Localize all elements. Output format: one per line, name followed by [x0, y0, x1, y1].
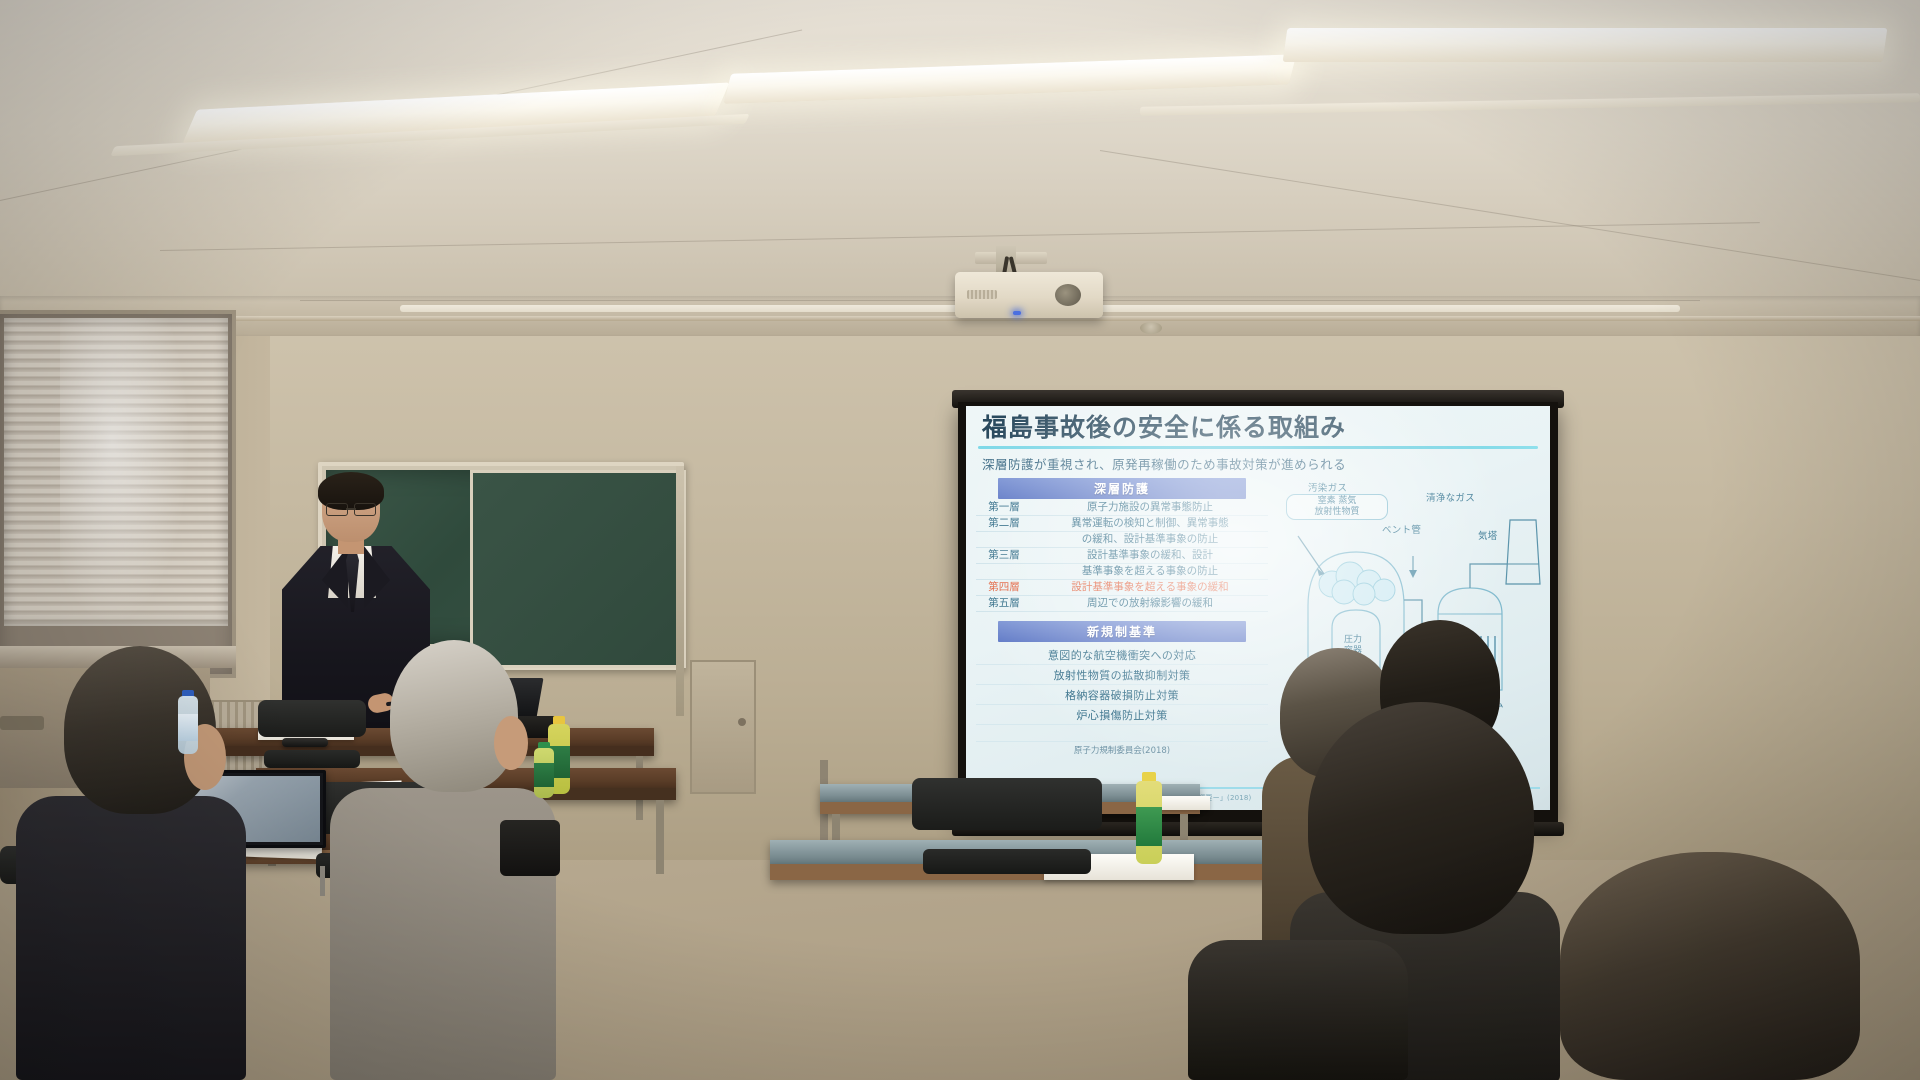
attendee-head: [390, 640, 518, 792]
defense-level-label: 第二層: [976, 515, 1032, 531]
defense-in-depth-row: 第二層異常運転の検知と制御、異常事態: [976, 515, 1268, 531]
defense-level-text: 異常運転の検知と制御、異常事態: [1032, 515, 1268, 531]
gas-arrow: [1298, 536, 1324, 574]
ceiling-projector: [955, 272, 1103, 318]
attendee-right-shoulder: [1188, 940, 1408, 1080]
defense-level-label: 第五層: [976, 596, 1032, 612]
water-bottle: [178, 690, 198, 754]
defense-in-depth-row: の緩和、設計基準事象の防止: [976, 531, 1268, 547]
defense-level-label: 第四層: [976, 580, 1032, 596]
defense-level-text: の緩和、設計基準事象の防止: [1032, 531, 1268, 547]
chair[interactable]: [912, 778, 1102, 874]
cabinet-knob[interactable]: [738, 718, 746, 726]
attendee-ear: [494, 716, 528, 770]
slide-subtitle: 深層防護が重視され、原発再稼働のため事故対策が進められる: [976, 454, 1540, 473]
defense-in-depth-table: 第一層原子力施設の異常事態防止第二層異常運転の検知と制御、異常事態の緩和、設計基…: [976, 500, 1268, 613]
projector-vent: [967, 290, 997, 299]
slide-title-rule: [978, 446, 1538, 449]
attendee-body: [16, 796, 246, 1080]
attendee-head: [1560, 852, 1860, 1080]
attendee-body: [1188, 940, 1408, 1080]
new-standards-list: 意図的な航空機衝突への対応放射性物質の拡散抑制対策格納容器破損防止対策炉心損傷防…: [976, 645, 1268, 725]
defense-in-depth-row: 基準事象を超える事象の防止: [976, 564, 1268, 580]
chalkboard-edge: [676, 466, 684, 716]
gas-cloud: [1319, 562, 1395, 605]
defense-level-label: 第三層: [976, 547, 1032, 563]
attendee-front-left: [16, 646, 246, 1080]
defense-in-depth-band: 深層防護: [998, 478, 1246, 499]
attendee-head: [1308, 702, 1534, 934]
chalkboard-panel-right: [470, 470, 686, 668]
defense-in-depth-row: 第四層設計基準事象を超える事象の緩和: [976, 580, 1268, 596]
defense-level-text: 原子力施設の異常事態防止: [1032, 500, 1268, 516]
defense-level-text: 設計基準事象を超える事象の緩和: [1032, 580, 1268, 596]
window-light-glow: [60, 318, 190, 626]
ceiling-light: [1283, 28, 1888, 62]
wall-cabinet: [690, 660, 756, 794]
new-standards-item: 意図的な航空機衝突への対応: [976, 645, 1268, 665]
defense-level-label: 第一層: [976, 500, 1032, 516]
chair-back: [912, 778, 1102, 830]
defense-level-text: 基準事象を超える事象の防止: [1032, 564, 1268, 580]
projector-lens: [1055, 284, 1081, 306]
defense-level-label: [976, 564, 1032, 580]
ceiling-speaker: [1140, 322, 1162, 334]
stack-connection-pipe: [1470, 564, 1507, 588]
new-standards-band: 新規制基準: [998, 621, 1246, 642]
defense-in-depth-row: 第一層原子力施設の異常事態防止: [976, 500, 1268, 516]
bag-on-floor: [500, 820, 560, 876]
attendee-right-foreground: [1560, 852, 1860, 1080]
defense-level-text: 設計基準事象の緩和、設計: [1032, 547, 1268, 563]
glasses-icon: [326, 503, 376, 514]
desk-leg: [656, 800, 664, 874]
bottle-label: [534, 763, 554, 787]
bottle-label: [1136, 807, 1162, 846]
defense-in-depth-row: 第五層周辺での放射線影響の緩和: [976, 596, 1268, 612]
slide-credit: 原子力規制委員会(2018): [976, 744, 1268, 756]
bottle-label: [178, 714, 198, 741]
defense-level-label: [976, 531, 1032, 547]
tea-bottle: [534, 742, 554, 798]
new-standards-item: 放射性物質の拡散抑制対策: [976, 665, 1268, 685]
defense-level-text: 周辺での放射線影響の緩和: [1032, 596, 1268, 612]
new-standards-spacer: [976, 725, 1268, 742]
tea-bottle: [1136, 772, 1162, 864]
projector-power-led: [1013, 311, 1021, 315]
screenshot-root: 福島事故後の安全に係る取組み 深層防護が重視され、原発再稼働のため事故対策が進め…: [0, 0, 1920, 1080]
chair-seat: [923, 849, 1090, 874]
exhaust-stack: [1506, 520, 1540, 584]
defense-in-depth-row: 第三層設計基準事象の緩和、設計: [976, 547, 1268, 563]
papers-right-desk: [1160, 796, 1210, 810]
vent-arrow-head: [1409, 570, 1417, 578]
new-standards-item: 炉心損傷防止対策: [976, 705, 1268, 725]
window-with-blinds: [0, 310, 236, 678]
slide-left-column: 深層防護 第一層原子力施設の異常事態防止第二層異常運転の検知と制御、異常事態の緩…: [976, 478, 1268, 757]
slide-title: 福島事故後の安全に係る取組み: [976, 412, 1540, 444]
new-standards-item: 格納容器破損防止対策: [976, 685, 1268, 705]
chair-leg: [320, 866, 325, 896]
